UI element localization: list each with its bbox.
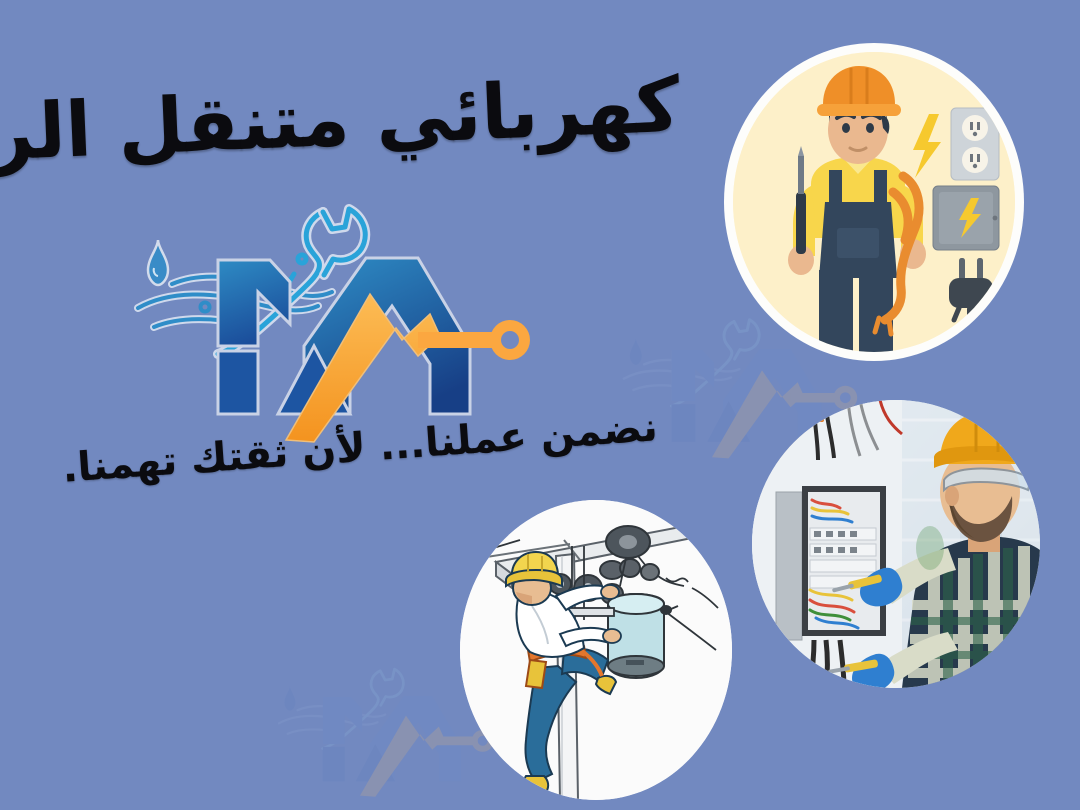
circuit-node-terminal-icon	[490, 320, 530, 360]
poster-canvas: كهربائي متنقل الرياض	[0, 0, 1080, 810]
illustration-lineman-utility-pole	[460, 500, 732, 800]
photo-electrician-breaker-panel	[752, 400, 1040, 688]
page-title: كهربائي متنقل الرياض	[39, 65, 682, 172]
brand-logo	[118, 196, 538, 446]
illustration-electrician-tools	[733, 52, 1015, 352]
electrical-panel-icon	[933, 186, 999, 250]
water-droplet-icon	[148, 240, 168, 285]
logo-letter-m	[218, 260, 290, 414]
wall-outlet-icon	[951, 108, 999, 180]
